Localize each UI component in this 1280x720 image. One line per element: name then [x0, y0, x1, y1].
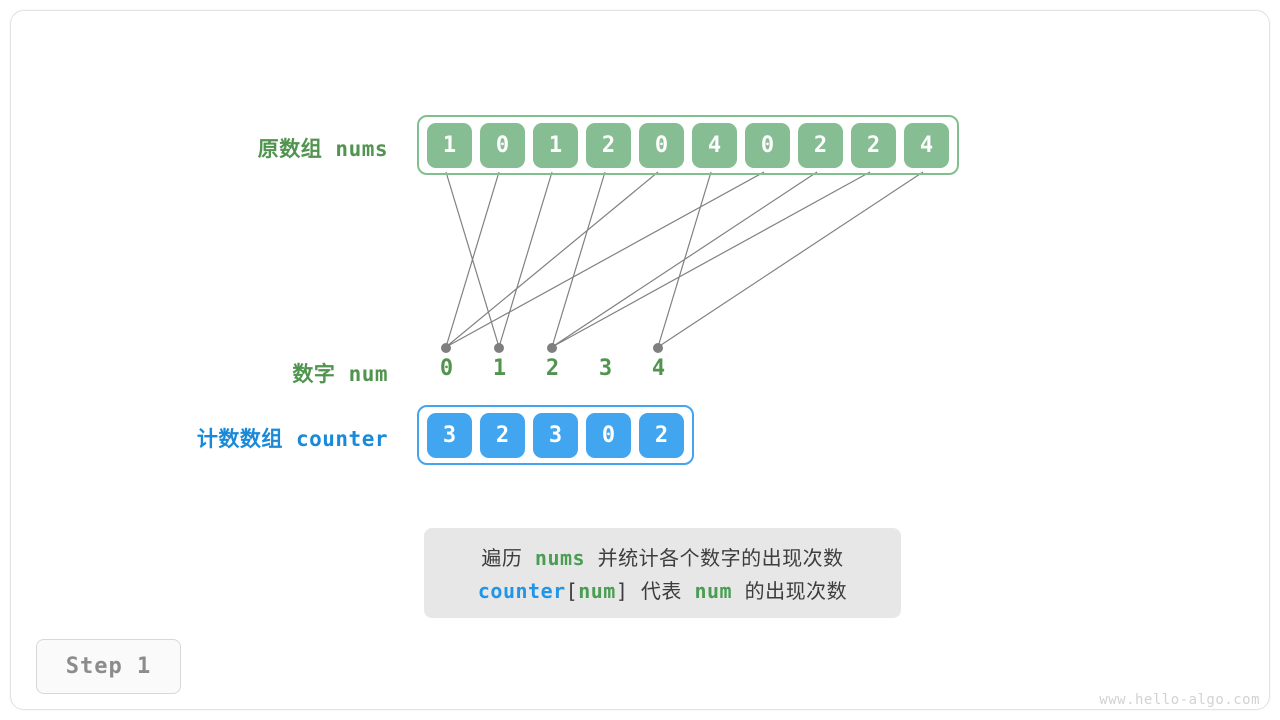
caption-l1-code-nums: nums [535, 546, 585, 570]
nums-cell[interactable]: 2 [851, 123, 896, 168]
nums-cell[interactable]: 0 [639, 123, 684, 168]
caption-l2-code-counter: counter [478, 579, 566, 603]
num-tick: 1 [473, 356, 526, 381]
counter-cell[interactable]: 3 [533, 413, 578, 458]
num-tick: 4 [632, 356, 685, 381]
nums-cell[interactable]: 0 [745, 123, 790, 168]
caption-l2-code-num: num [578, 579, 616, 603]
nums-array: 1 0 1 2 0 4 0 2 2 4 [417, 115, 959, 175]
nums-cell[interactable]: 1 [533, 123, 578, 168]
counter-cell[interactable]: 3 [427, 413, 472, 458]
nums-cell[interactable]: 4 [692, 123, 737, 168]
counter-cell[interactable]: 2 [639, 413, 684, 458]
num-tick: 3 [579, 356, 632, 381]
caption-line-1: 遍历 nums 并统计各个数字的出现次数 [481, 542, 843, 571]
caption-l2-code-num2: num [694, 579, 732, 603]
caption-line-2: counter[num] 代表 num 的出现次数 [478, 575, 847, 604]
num-tick-row: 0 1 2 3 4 [417, 356, 697, 386]
nums-cell[interactable]: 1 [427, 123, 472, 168]
watermark: www.hello-algo.com [1099, 692, 1260, 708]
num-row-label: 数字 num [278, 358, 388, 388]
counter-row-label: 计数数组 counter [168, 423, 388, 453]
caption-l2-part2: 的出现次数 [732, 579, 847, 603]
nums-cell[interactable]: 2 [586, 123, 631, 168]
caption-l2-part1: 代表 [628, 579, 694, 603]
caption-l1-part2: 并统计各个数字的出现次数 [585, 546, 844, 570]
diagram-canvas: 原数组 nums 1 0 1 2 0 4 0 2 2 4 数字 num 0 1 … [0, 0, 1280, 720]
counter-cell[interactable]: 2 [480, 413, 525, 458]
num-tick: 0 [420, 356, 473, 381]
nums-cell[interactable]: 2 [798, 123, 843, 168]
num-tick: 2 [526, 356, 579, 381]
caption-l2-bracket-close: ] [616, 579, 629, 603]
nums-row-label: 原数组 nums [238, 133, 388, 163]
step-badge: Step 1 [36, 639, 181, 694]
caption-box: 遍历 nums 并统计各个数字的出现次数 counter[num] 代表 num… [424, 528, 901, 618]
nums-cell[interactable]: 4 [904, 123, 949, 168]
nums-cell[interactable]: 0 [480, 123, 525, 168]
counter-array: 3 2 3 0 2 [417, 405, 694, 465]
counter-cell[interactable]: 0 [586, 413, 631, 458]
caption-l2-bracket-open: [ [566, 579, 579, 603]
caption-l1-part1: 遍历 [481, 546, 535, 570]
